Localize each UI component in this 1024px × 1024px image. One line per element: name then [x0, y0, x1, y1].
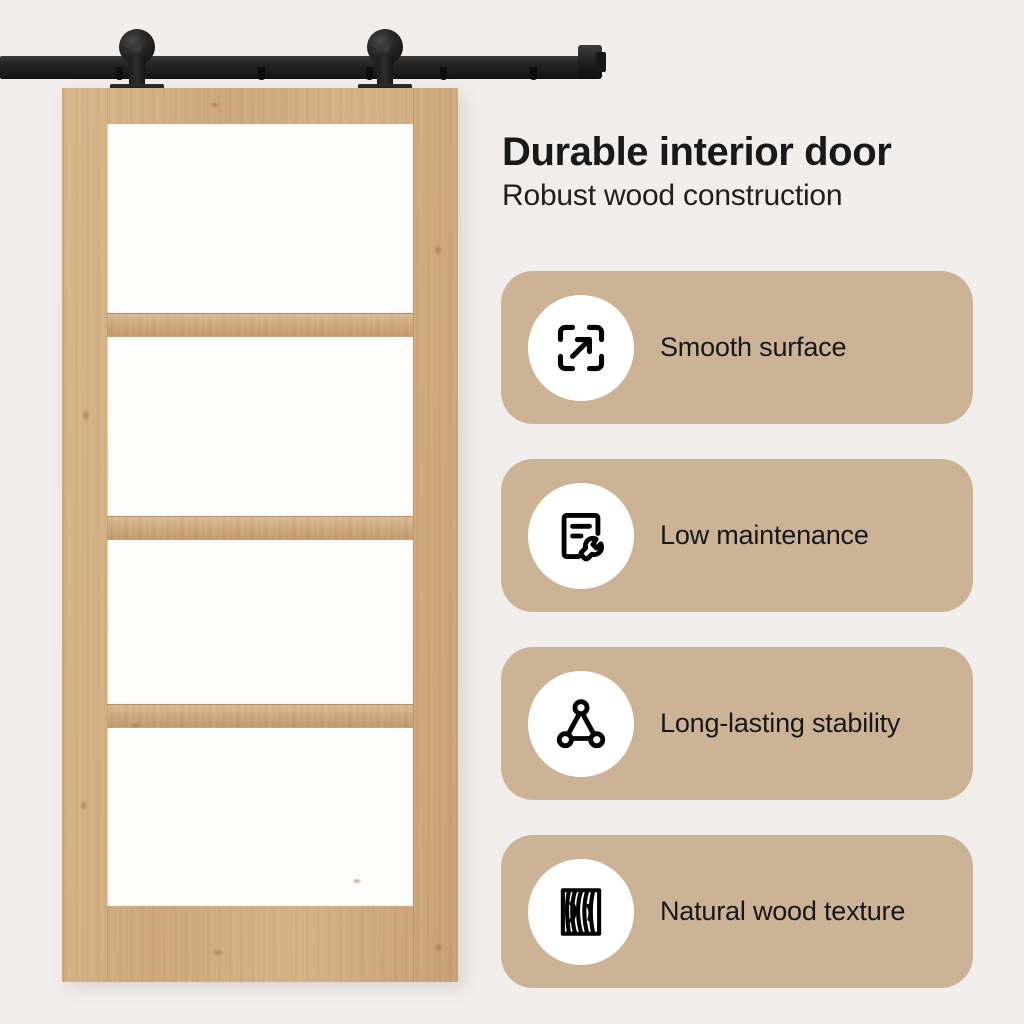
wood-knot — [212, 949, 224, 956]
low-maintenance-icon — [528, 483, 634, 589]
feature-card-stability: Long-lasting stability — [501, 647, 973, 800]
heading-block: Durable interior door Robust wood constr… — [502, 130, 1012, 213]
roller-hub — [380, 42, 390, 52]
wood-texture-icon — [528, 859, 634, 965]
stile-edge-right — [413, 88, 414, 982]
glass-panel-1 — [107, 124, 413, 313]
smooth-surface-icon — [528, 295, 634, 401]
wood-knot — [82, 408, 90, 422]
wood-knot — [352, 878, 362, 884]
door-slab — [62, 88, 458, 982]
stability-icon — [528, 671, 634, 777]
rail-bolt — [116, 67, 123, 80]
feature-card-low-maintenance: Low maintenance — [501, 459, 973, 612]
wood-knot — [80, 800, 87, 811]
feature-label: Low maintenance — [660, 520, 869, 551]
door-rail-3 — [107, 704, 413, 728]
page-title: Durable interior door — [502, 130, 1012, 175]
glass-panel-2 — [107, 335, 413, 516]
wood-knot — [130, 722, 141, 728]
roller-hub — [132, 42, 142, 52]
rail-bolt — [366, 67, 373, 80]
door-edge-left — [62, 88, 64, 982]
product-image — [0, 0, 500, 1024]
glass-panel-4 — [107, 726, 413, 906]
wood-knot — [210, 102, 220, 108]
wood-knot — [434, 244, 442, 256]
door-rail-1 — [107, 313, 413, 337]
page-subtitle: Robust wood construction — [502, 179, 1012, 213]
feature-list: Smooth surface Low maintenance — [501, 271, 973, 988]
stile-edge-left — [107, 88, 108, 982]
glass-panel-3 — [107, 538, 413, 704]
feature-label: Natural wood texture — [660, 896, 905, 927]
feature-card-smooth-surface: Smooth surface — [501, 271, 973, 424]
rail-bolt — [440, 67, 447, 80]
content-panel: Durable interior door Robust wood constr… — [490, 0, 1024, 1024]
wood-knot — [434, 943, 443, 952]
feature-label: Smooth surface — [660, 332, 846, 363]
feature-label: Long-lasting stability — [660, 708, 900, 739]
rail-bolt — [258, 67, 265, 80]
door-rail-2 — [107, 516, 413, 540]
feature-card-wood-texture: Natural wood texture — [501, 835, 973, 988]
